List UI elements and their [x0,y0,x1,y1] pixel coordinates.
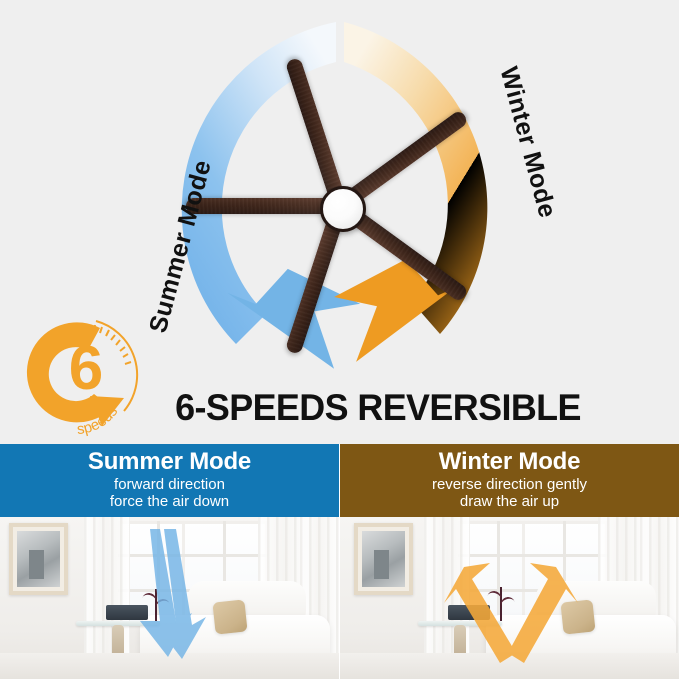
winter-sub-line-1: reverse direction gently [340,477,679,494]
summer-band-subtitle: forward direction force the air down [0,477,339,511]
badge-number: 6 [56,338,116,400]
summer-airflow-arrows [0,517,339,679]
panel-winter-mode: Winter Mode reverse direction gently dra… [340,444,679,679]
winter-band: Winter Mode reverse direction gently dra… [340,444,679,517]
page-title: 6-SPEEDS REVERSIBLE [155,389,601,426]
hero-graphic: Summer Mode Winter Mode [0,0,679,444]
summer-sub-line-2: force the air down [0,494,339,511]
summer-band: Summer Mode forward direction force the … [0,444,339,517]
ceiling-fan [150,16,530,396]
summer-band-title: Summer Mode [0,449,339,476]
panel-summer-mode: Summer Mode forward direction force the … [0,444,339,679]
infographic-page: Summer Mode Winter Mode [0,0,679,679]
winter-room-photo [340,517,679,679]
winter-sub-line-2: draw the air up [340,494,679,511]
summer-room-photo [0,517,339,679]
winter-band-subtitle: reverse direction gently draw the air up [340,477,679,511]
fan-hub [320,186,366,232]
summer-sub-line-1: forward direction [0,477,339,494]
six-speeds-badge: speeds 6 [16,312,142,438]
winter-band-title: Winter Mode [340,449,679,476]
winter-airflow-arrows [340,517,679,679]
mode-comparison-panels: Summer Mode forward direction force the … [0,444,679,679]
